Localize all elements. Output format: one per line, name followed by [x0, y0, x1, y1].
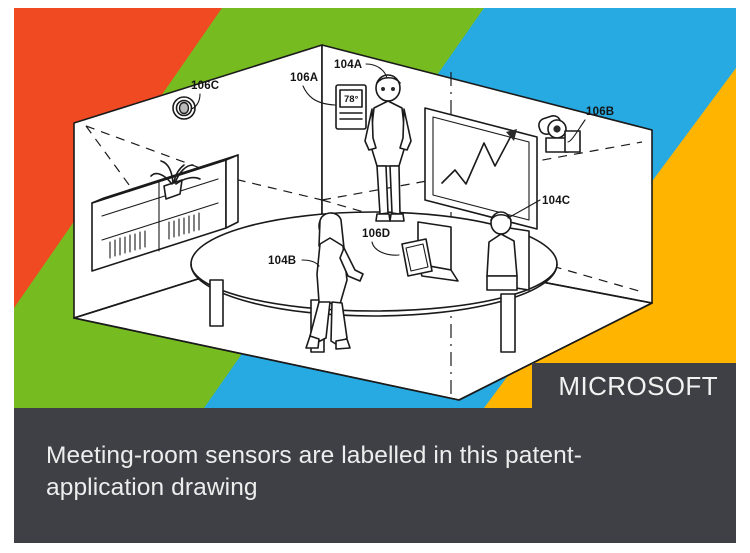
caption-panel: Meeting-room sensors are labelled in thi… [14, 408, 736, 543]
standing-person-torso [370, 101, 406, 166]
patent-drawing-svg: 78° [14, 8, 736, 408]
thermostat-reading: 78° [344, 94, 359, 105]
standing-person-leg-right [390, 166, 400, 214]
standing-person-shoe-right [390, 214, 404, 221]
label-104A: 104A [334, 59, 362, 71]
standing-person-eye-left [381, 87, 385, 91]
table-leg-left [210, 280, 223, 326]
tablet-device [402, 239, 432, 276]
camera-lens [553, 125, 560, 132]
motion-sensor [173, 97, 195, 119]
label-104B: 104B [268, 255, 296, 267]
table-leg-right [501, 294, 515, 352]
label-106C: 106C [191, 80, 219, 92]
tablet-body [402, 239, 432, 276]
credenza-side [226, 155, 238, 228]
hero-image: 78° [14, 8, 736, 408]
caption-text: Meeting-room sensors are labelled in thi… [46, 440, 696, 505]
source-badge-label: MICROSOFT [558, 373, 718, 399]
source-badge: MICROSOFT [532, 363, 736, 408]
page-root: 78° [0, 0, 750, 553]
wall-thermostat: 78° [336, 85, 366, 129]
walking-person-shoe-front [336, 339, 350, 349]
camera-wall-mount [565, 131, 580, 152]
seated-person-torso [487, 234, 517, 276]
label-104C: 104C [542, 195, 570, 207]
label-106A: 106A [290, 72, 318, 84]
motion-sensor-lens [180, 103, 189, 114]
seated-person-lap [487, 276, 517, 290]
standing-person-shoe-left [376, 214, 390, 221]
label-106D: 106D [362, 228, 390, 240]
standing-person-eye-right [391, 87, 395, 91]
label-106B: 106B [586, 106, 614, 118]
walking-person-torso [317, 238, 347, 304]
